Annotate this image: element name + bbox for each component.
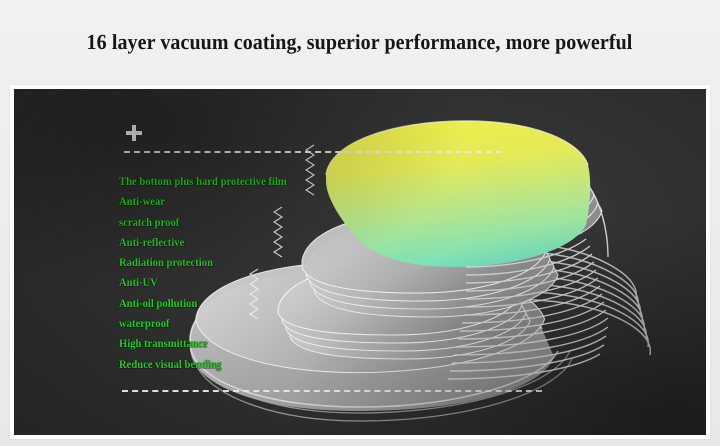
list-item: scratch proof (119, 213, 357, 233)
page-root: 16 layer vacuum coating, superior perfor… (0, 0, 720, 446)
list-item: Anti-reflective (119, 233, 357, 253)
plus-icon (126, 125, 142, 141)
list-item: Anti-oil pollution (119, 294, 357, 314)
list-item: Radiation protection (119, 253, 357, 273)
title-bar: 16 layer vacuum coating, superior perfor… (0, 0, 720, 84)
coating-feature-list: The bottom plus hard protective film Ant… (119, 172, 369, 375)
guide-line-bottom (122, 390, 542, 392)
list-item: Anti-UV (119, 273, 357, 293)
illustration-frame: The bottom plus hard protective film Ant… (10, 85, 710, 439)
list-item: Anti-wear (119, 192, 357, 212)
list-item: Reduce visual bending (119, 355, 357, 375)
page-title: 16 layer vacuum coating, superior perfor… (87, 30, 633, 54)
list-item: waterproof (119, 314, 357, 334)
guide-line-top (124, 151, 502, 153)
list-item: High transmittance (119, 334, 357, 354)
list-item: The bottom plus hard protective film (119, 172, 357, 192)
illustration-panel: The bottom plus hard protective film Ant… (14, 89, 706, 435)
